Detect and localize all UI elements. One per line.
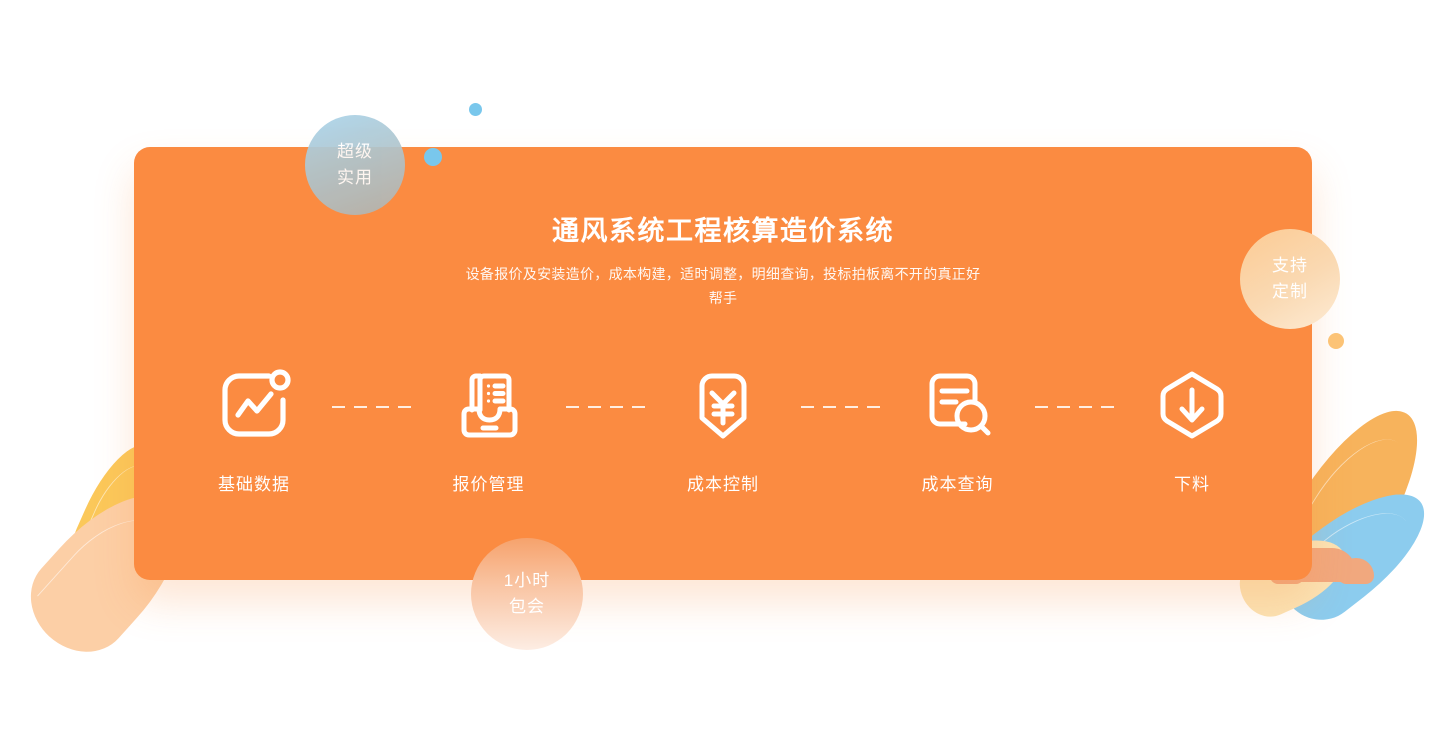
chart-square-icon bbox=[211, 362, 297, 448]
feature-row: 基础数据 bbox=[194, 362, 1252, 495]
connector-dashes bbox=[783, 406, 898, 408]
connector-dashes bbox=[549, 406, 664, 408]
feature-label: 报价管理 bbox=[453, 470, 525, 495]
connector-dashes bbox=[1018, 406, 1133, 408]
hero-subtitle: 设备报价及安装造价，成本构建，适时调整，明细查询，投标拍板离不开的真正好帮手 bbox=[463, 262, 983, 310]
hero-card-content: 通风系统工程核算造价系统 设备报价及安装造价，成本构建，适时调整，明细查询，投标… bbox=[134, 147, 1312, 580]
feature-label: 下料 bbox=[1174, 470, 1210, 495]
badge-line-2: 包会 bbox=[509, 594, 545, 620]
feature-item-quotation-management[interactable]: 报价管理 bbox=[429, 362, 549, 495]
feature-item-cost-query[interactable]: 成本查询 bbox=[898, 362, 1018, 495]
decorative-dot-blue-small bbox=[469, 103, 482, 116]
feature-item-cost-control[interactable]: 成本控制 bbox=[663, 362, 783, 495]
hero-banner: 通风系统工程核算造价系统 设备报价及安装造价，成本构建，适时调整，明细查询，投标… bbox=[0, 0, 1440, 730]
inbox-documents-icon bbox=[446, 362, 532, 448]
feature-item-basic-data[interactable]: 基础数据 bbox=[194, 362, 314, 495]
feature-label: 成本控制 bbox=[687, 470, 759, 495]
connector-dashes bbox=[314, 406, 429, 408]
hero-card: 通风系统工程核算造价系统 设备报价及安装造价，成本构建，适时调整，明细查询，投标… bbox=[134, 147, 1312, 580]
page-title: 通风系统工程核算造价系统 bbox=[134, 209, 1312, 248]
badge-line-1: 1小时 bbox=[504, 568, 550, 594]
badge-line-1: 支持 bbox=[1272, 253, 1308, 279]
decorative-dot-blue-large bbox=[424, 148, 442, 166]
feature-label: 成本查询 bbox=[922, 470, 994, 495]
feature-item-cutting[interactable]: 下料 bbox=[1132, 362, 1252, 495]
badge-line-2: 定制 bbox=[1272, 279, 1308, 305]
badge-one-hour-guarantee[interactable]: 1小时 包会 bbox=[471, 538, 583, 650]
badge-supports-customization[interactable]: 支持 定制 bbox=[1240, 229, 1340, 329]
yuan-shield-icon bbox=[680, 362, 766, 448]
hexagon-download-icon bbox=[1149, 362, 1235, 448]
feature-label: 基础数据 bbox=[218, 470, 290, 495]
badge-super-practical[interactable]: 超级 实用 bbox=[305, 115, 405, 215]
decorative-dot-orange bbox=[1328, 333, 1344, 349]
badge-line-1: 超级 bbox=[337, 139, 373, 165]
document-search-icon bbox=[915, 362, 1001, 448]
badge-line-2: 实用 bbox=[337, 165, 373, 191]
